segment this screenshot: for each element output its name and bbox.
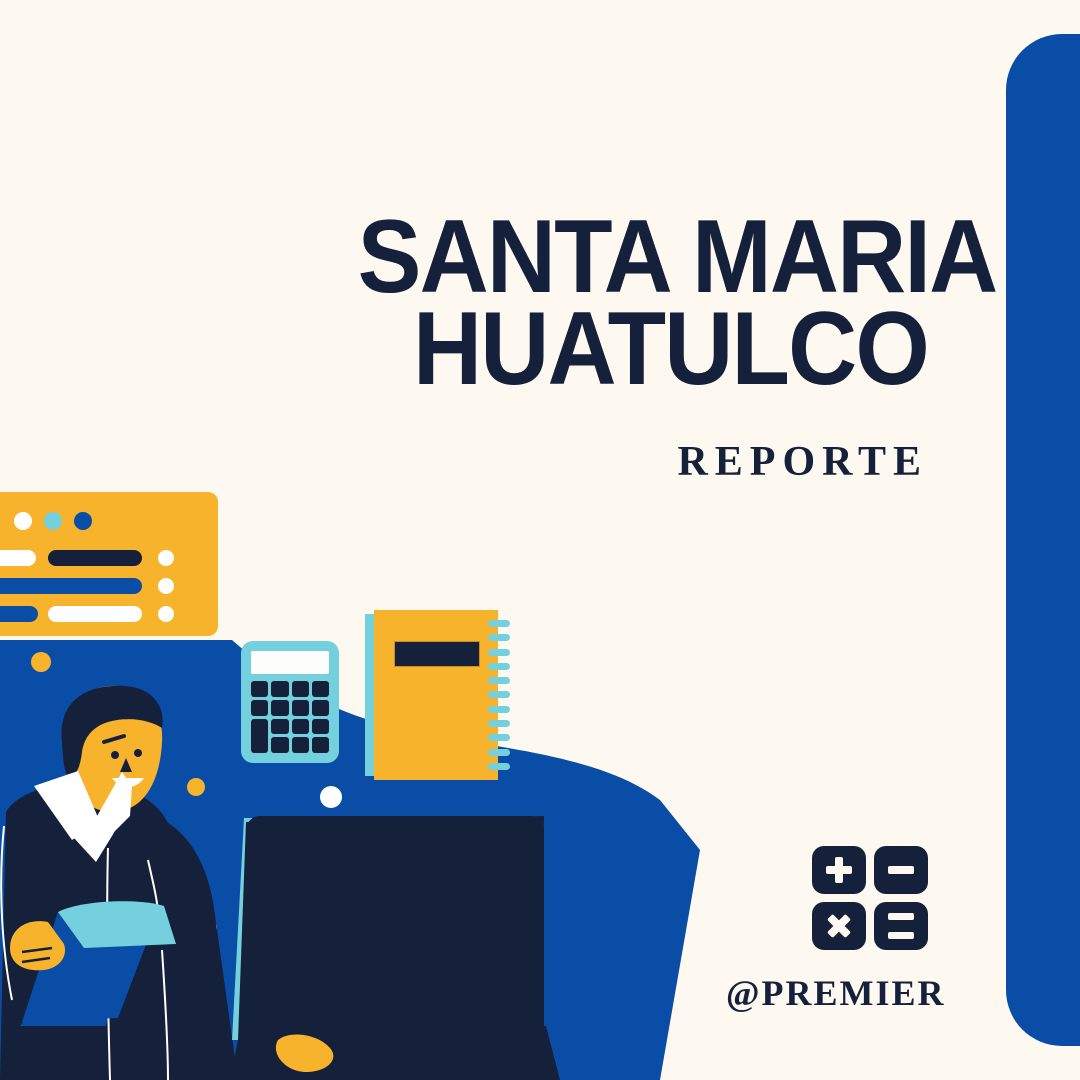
poster-canvas: SANTA MARIA HUATULCO REPORTE @PREMIER [0, 0, 1080, 1080]
person-ear [63, 747, 78, 767]
person-jacket-seam-3 [148, 860, 158, 926]
brand-handle: @PREMIER [726, 972, 942, 1014]
right-blue-accent-bar [1006, 34, 1080, 1046]
minus-icon [874, 846, 928, 894]
multiply-icon [812, 902, 866, 950]
calculator-key [292, 737, 309, 753]
calculator-screen [251, 651, 329, 674]
person-nose [120, 758, 132, 772]
monitor-bezel-cyan [232, 818, 252, 1040]
person-eye-right [134, 749, 142, 757]
ui-card-bullet-3 [158, 606, 174, 622]
blue-background-blob [0, 640, 700, 1080]
spiral-ring [488, 620, 510, 627]
ui-card-row-1-right [48, 550, 142, 566]
spiral-ring [488, 720, 510, 727]
decorative-dot-yellow-1 [31, 652, 51, 672]
person-finger-2 [22, 958, 50, 962]
monitor-screen [246, 816, 544, 1038]
calculator-key [271, 700, 288, 716]
notebook-label [394, 641, 480, 667]
person-jacket [0, 784, 190, 1080]
person-hand-on-desk [276, 1034, 333, 1072]
monitor-screen-tilt [238, 816, 544, 1040]
ui-card-bullet-1 [158, 550, 174, 566]
ui-card-row-3-right [48, 606, 142, 622]
equals-icon [874, 902, 928, 950]
notebook-spiral [488, 620, 510, 770]
plus-icon [812, 846, 866, 894]
desk-shadow [230, 1000, 560, 1080]
calculator-key [251, 700, 268, 716]
calculator-key [251, 681, 268, 697]
calculator-key [292, 719, 309, 735]
notebook-page-edge [365, 614, 374, 776]
ui-card-row-1-left [0, 550, 36, 566]
spiral-ring [488, 663, 510, 670]
person-eye-left [111, 751, 119, 759]
spiral-ring [488, 649, 510, 656]
person-hair [62, 686, 163, 776]
spiral-ring [488, 749, 510, 756]
calculator-prop [241, 641, 339, 763]
spiral-ring [488, 706, 510, 713]
person-smile [112, 778, 144, 787]
person-finger-1 [22, 948, 52, 952]
spiral-ring [488, 677, 510, 684]
person-eyebrow [104, 736, 124, 742]
decorative-dot-yellow-2 [187, 778, 205, 796]
monitor-base-shadow [230, 1026, 560, 1080]
spiral-ring [488, 634, 510, 641]
spiral-ring [488, 763, 510, 770]
person-jacket-right [140, 812, 238, 1080]
person-hand [10, 921, 65, 970]
calculator-key-tall [251, 719, 268, 754]
person-jacket-seam-4 [162, 950, 168, 1080]
spiral-notebook-prop [374, 610, 498, 780]
yellow-ui-card [0, 492, 218, 636]
calculator-key [271, 681, 288, 697]
ui-card-row-3-left [0, 606, 38, 622]
document-cyan-fold [58, 901, 176, 948]
person-collar-left [34, 771, 100, 840]
person-collar [36, 772, 130, 862]
person-jacket-seam-2 [107, 848, 110, 1080]
person-jacket-seam-1 [1, 826, 12, 1000]
window-dot-cyan [44, 512, 62, 530]
calculator-logo [812, 846, 928, 950]
page-title: SANTA MARIA HUATULCO [308, 212, 928, 395]
person-collar-right [96, 772, 132, 838]
person-head [68, 686, 162, 812]
decorative-dot-white-1 [320, 786, 342, 808]
desk-surface [0, 1012, 600, 1080]
window-dot-white [14, 512, 32, 530]
ui-card-bullet-2 [158, 578, 174, 594]
calculator-key [312, 737, 329, 753]
ui-card-row-2 [0, 578, 142, 594]
document-blue [22, 908, 160, 1022]
monitor-stand [376, 996, 452, 1080]
calculator-key [292, 700, 309, 716]
calculator-keypad [251, 681, 329, 753]
document-blue-2 [20, 946, 120, 1026]
title-line-2: HUATULCO [358, 304, 928, 396]
spiral-ring [488, 691, 510, 698]
calculator-key [312, 681, 329, 697]
spiral-ring [488, 734, 510, 741]
calculator-key [312, 719, 329, 735]
calculator-key [312, 700, 329, 716]
decorative-dot-white-2 [199, 919, 217, 937]
page-subtitle: REPORTE [308, 438, 928, 486]
calculator-key [292, 681, 309, 697]
window-dot-blue [74, 512, 92, 530]
calculator-key [271, 737, 288, 753]
calculator-key [271, 719, 288, 735]
